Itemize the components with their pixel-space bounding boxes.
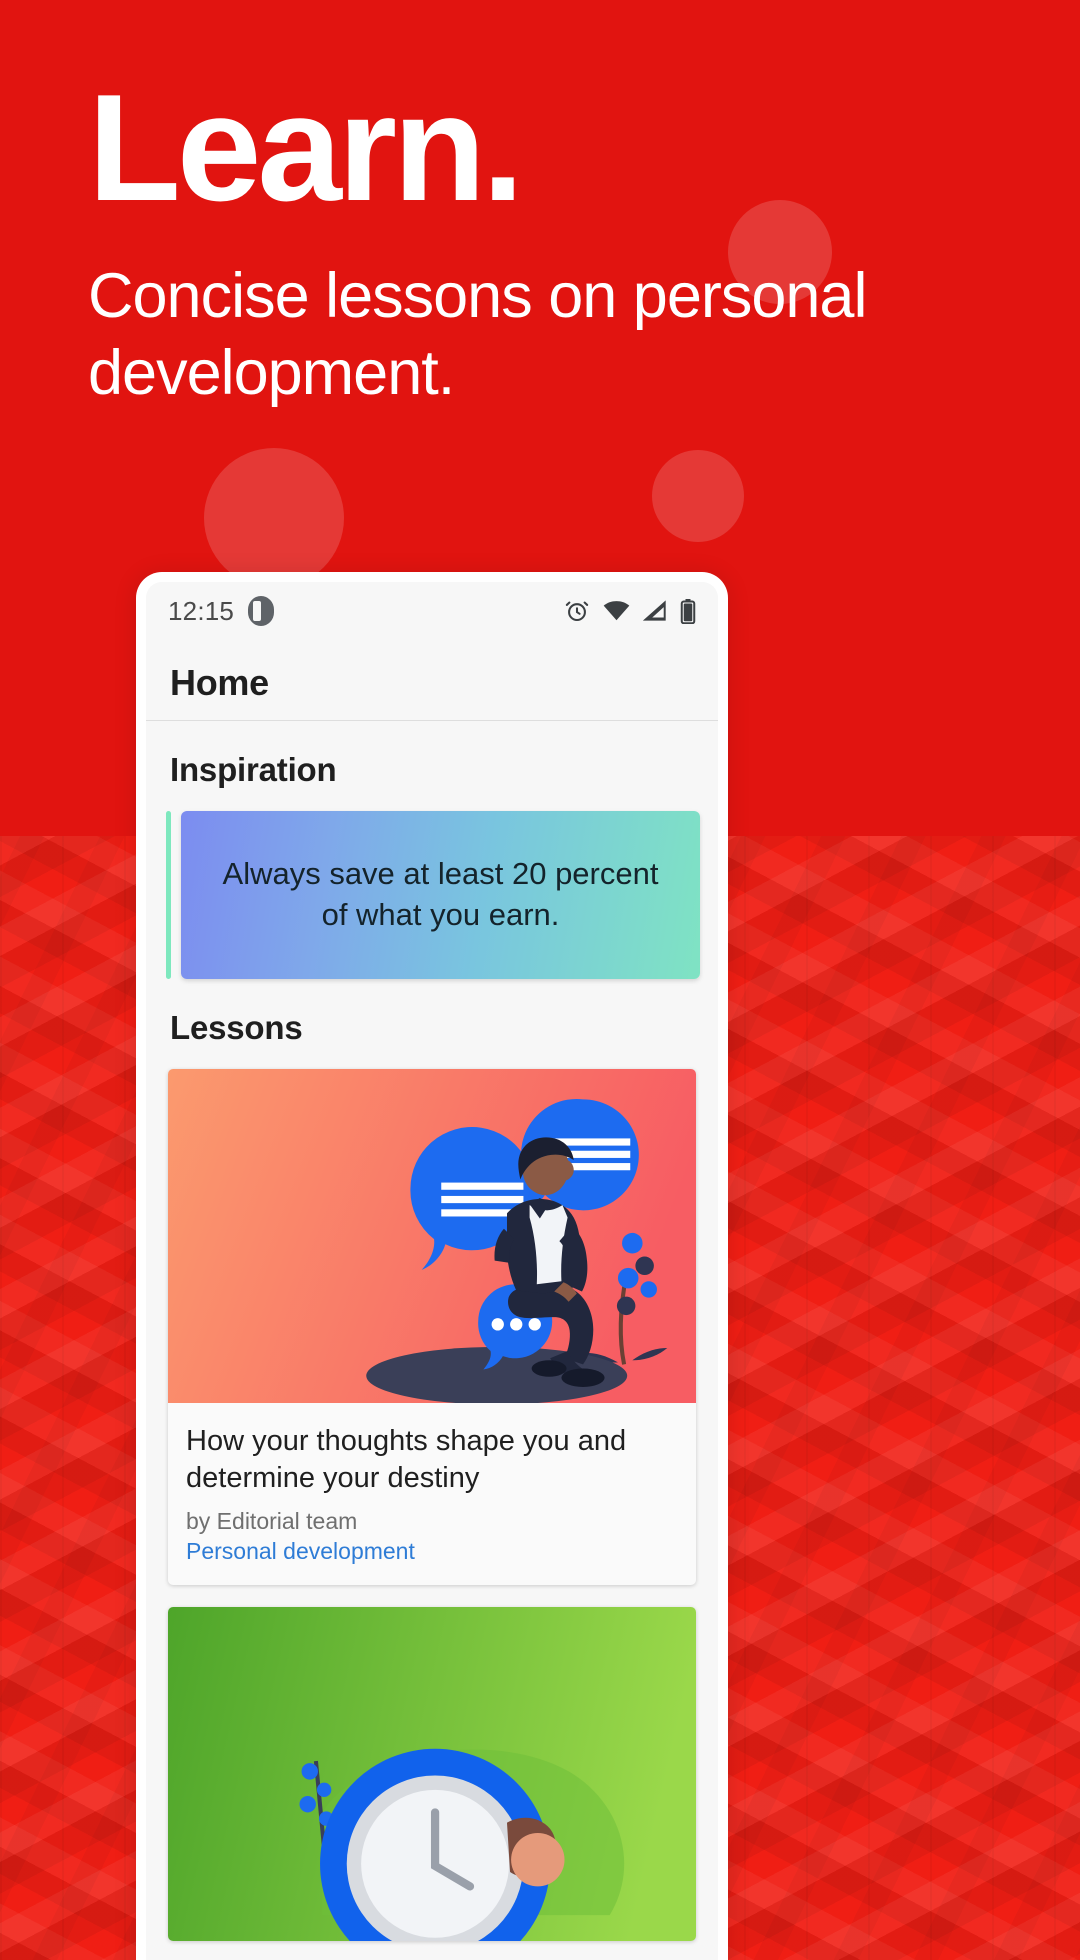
cellular-signal-icon — [643, 600, 667, 622]
hero-subtitle: Concise lessons on personal development. — [88, 258, 1048, 412]
phone-screen: 12:15 — [146, 582, 718, 1960]
app-notification-icon — [248, 596, 274, 626]
quote-text: Always save at least 20 percent of what … — [207, 854, 674, 936]
alarm-icon — [564, 598, 590, 624]
hero-copy: Learn. Concise lessons on personal devel… — [88, 72, 1048, 412]
lesson-list: How your thoughts shape you and determin… — [146, 1069, 718, 1941]
lesson-category-link[interactable]: Personal development — [186, 1538, 678, 1565]
lesson-author: by Editorial team — [186, 1508, 678, 1535]
phone-mockup: 12:15 — [136, 572, 728, 1960]
decorative-circle — [204, 448, 344, 588]
section-title-lessons: Lessons — [146, 979, 718, 1069]
status-bar-icons — [564, 598, 696, 624]
quote-accent-bar — [166, 811, 171, 979]
status-bar-time: 12:15 — [168, 596, 234, 627]
list-item[interactable]: How your thoughts shape you and determin… — [168, 1069, 696, 1585]
decorative-circle — [652, 450, 744, 542]
status-bar: 12:15 — [146, 582, 718, 640]
person-sitting-with-speech-bubbles-illustration — [168, 1069, 696, 1403]
woman-with-alarm-clock-illustration — [168, 1607, 696, 1941]
section-title-inspiration: Inspiration — [146, 721, 718, 811]
lesson-card-body: How your thoughts shape you and determin… — [168, 1403, 696, 1585]
inspiration-quote-card[interactable]: Always save at least 20 percent of what … — [181, 811, 700, 979]
hero-headline: Learn. — [88, 72, 1048, 224]
wifi-icon — [603, 600, 630, 622]
app-bar: Home — [146, 640, 718, 721]
page-title: Home — [170, 662, 694, 704]
scroll-content[interactable]: Inspiration Always save at least 20 perc… — [146, 721, 718, 1960]
list-item[interactable] — [168, 1607, 696, 1941]
battery-icon — [680, 599, 696, 624]
lesson-title: How your thoughts shape you and determin… — [186, 1423, 678, 1497]
inspiration-quote-wrapper: Always save at least 20 percent of what … — [146, 811, 718, 979]
